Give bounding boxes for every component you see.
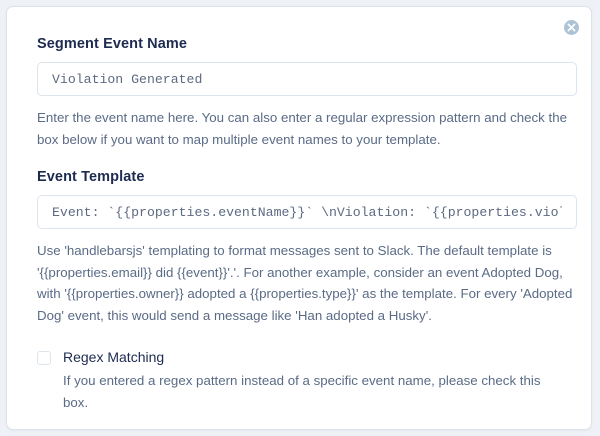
segment-event-name-input[interactable] [37, 62, 577, 96]
modal-content: Segment Event Name Enter the event name … [37, 35, 575, 413]
event-template-label: Event Template [37, 168, 575, 186]
regex-matching-description: If you entered a regex pattern instead o… [63, 370, 563, 413]
regex-matching-checkbox[interactable] [37, 351, 51, 365]
segment-event-modal: Segment Event Name Enter the event name … [6, 6, 592, 430]
section-divider [37, 150, 575, 168]
close-icon[interactable] [564, 20, 579, 35]
regex-matching-row: Regex Matching If you entered a regex pa… [37, 348, 575, 413]
segment-event-name-label: Segment Event Name [37, 35, 575, 53]
close-x-glyph [567, 23, 576, 32]
event-template-input[interactable] [37, 195, 577, 229]
regex-matching-label[interactable]: Regex Matching [63, 348, 563, 366]
event-template-help: Use 'handlebarsjs' templating to format … [37, 240, 577, 326]
regex-matching-texts: Regex Matching If you entered a regex pa… [63, 348, 563, 413]
segment-event-name-help: Enter the event name here. You can also … [37, 107, 577, 150]
